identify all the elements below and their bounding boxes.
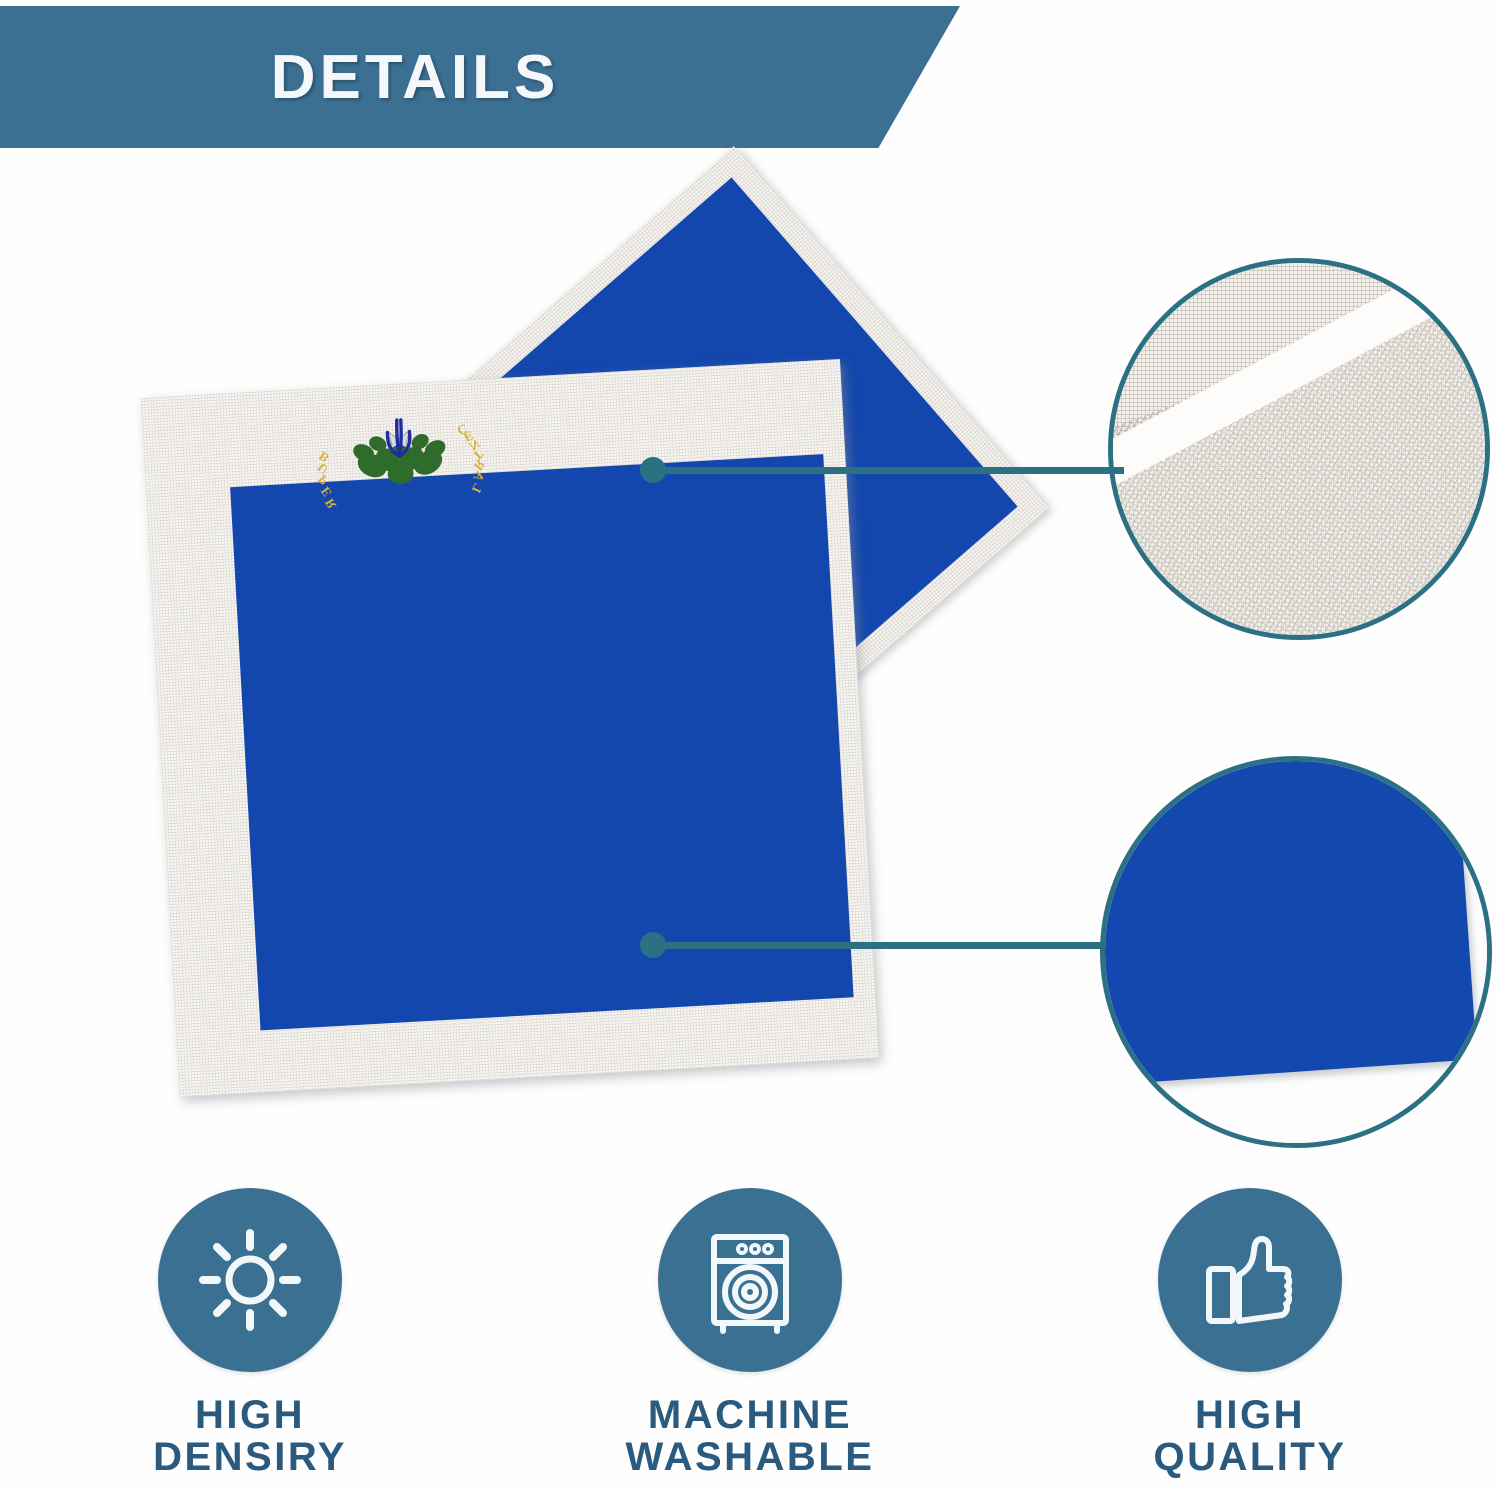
feature-label-line1: HIGH — [1153, 1394, 1346, 1436]
feature-label-high-density: HIGH DENSIRY — [153, 1394, 347, 1479]
feature-row: HIGH DENSIRY — [0, 1188, 1500, 1492]
blue-fabric-corner — [1100, 756, 1476, 1088]
flag-emblem-icon: R E P U B L A R T N E C — [298, 407, 503, 517]
sun-icon — [191, 1221, 309, 1339]
feature-icon-circle — [158, 1188, 342, 1372]
feature-label-machine-washable: MACHINE WASHABLE — [626, 1394, 875, 1479]
fabric-fold-highlight — [1108, 258, 1490, 640]
washing-machine-icon — [691, 1221, 809, 1339]
feature-label-line2: QUALITY — [1153, 1436, 1346, 1478]
callout-1-anchor-dot-icon — [640, 457, 666, 483]
feature-label-line1: MACHINE — [626, 1394, 875, 1436]
feature-label-line2: DENSIRY — [153, 1436, 347, 1478]
product-photo: R E P U B L A R T N E C — [0, 150, 1080, 1180]
svg-text:C: C — [455, 421, 469, 438]
feature-high-density: HIGH DENSIRY — [0, 1188, 500, 1492]
feature-label-line2: WASHABLE — [626, 1436, 875, 1478]
svg-text:B: B — [316, 448, 331, 465]
feature-label-high-quality: HIGH QUALITY — [1153, 1394, 1346, 1479]
feature-icon-circle — [658, 1188, 842, 1372]
details-banner: DETAILS — [0, 6, 960, 148]
feature-label-line1: HIGH — [153, 1394, 347, 1436]
callout-blue-corner-closeup — [1100, 756, 1492, 1148]
callout-2-leader-line — [664, 942, 1104, 949]
page-title: DETAILS — [0, 6, 830, 148]
callout-2-anchor-dot-icon — [640, 932, 666, 958]
callout-fabric-weave-closeup — [1108, 258, 1490, 640]
feature-high-quality: HIGH QUALITY — [1000, 1188, 1500, 1492]
thumbs-up-icon — [1191, 1221, 1309, 1339]
feature-machine-washable: MACHINE WASHABLE — [500, 1188, 1000, 1492]
callout-1-leader-line — [664, 467, 1124, 474]
feature-icon-circle — [1158, 1188, 1342, 1372]
